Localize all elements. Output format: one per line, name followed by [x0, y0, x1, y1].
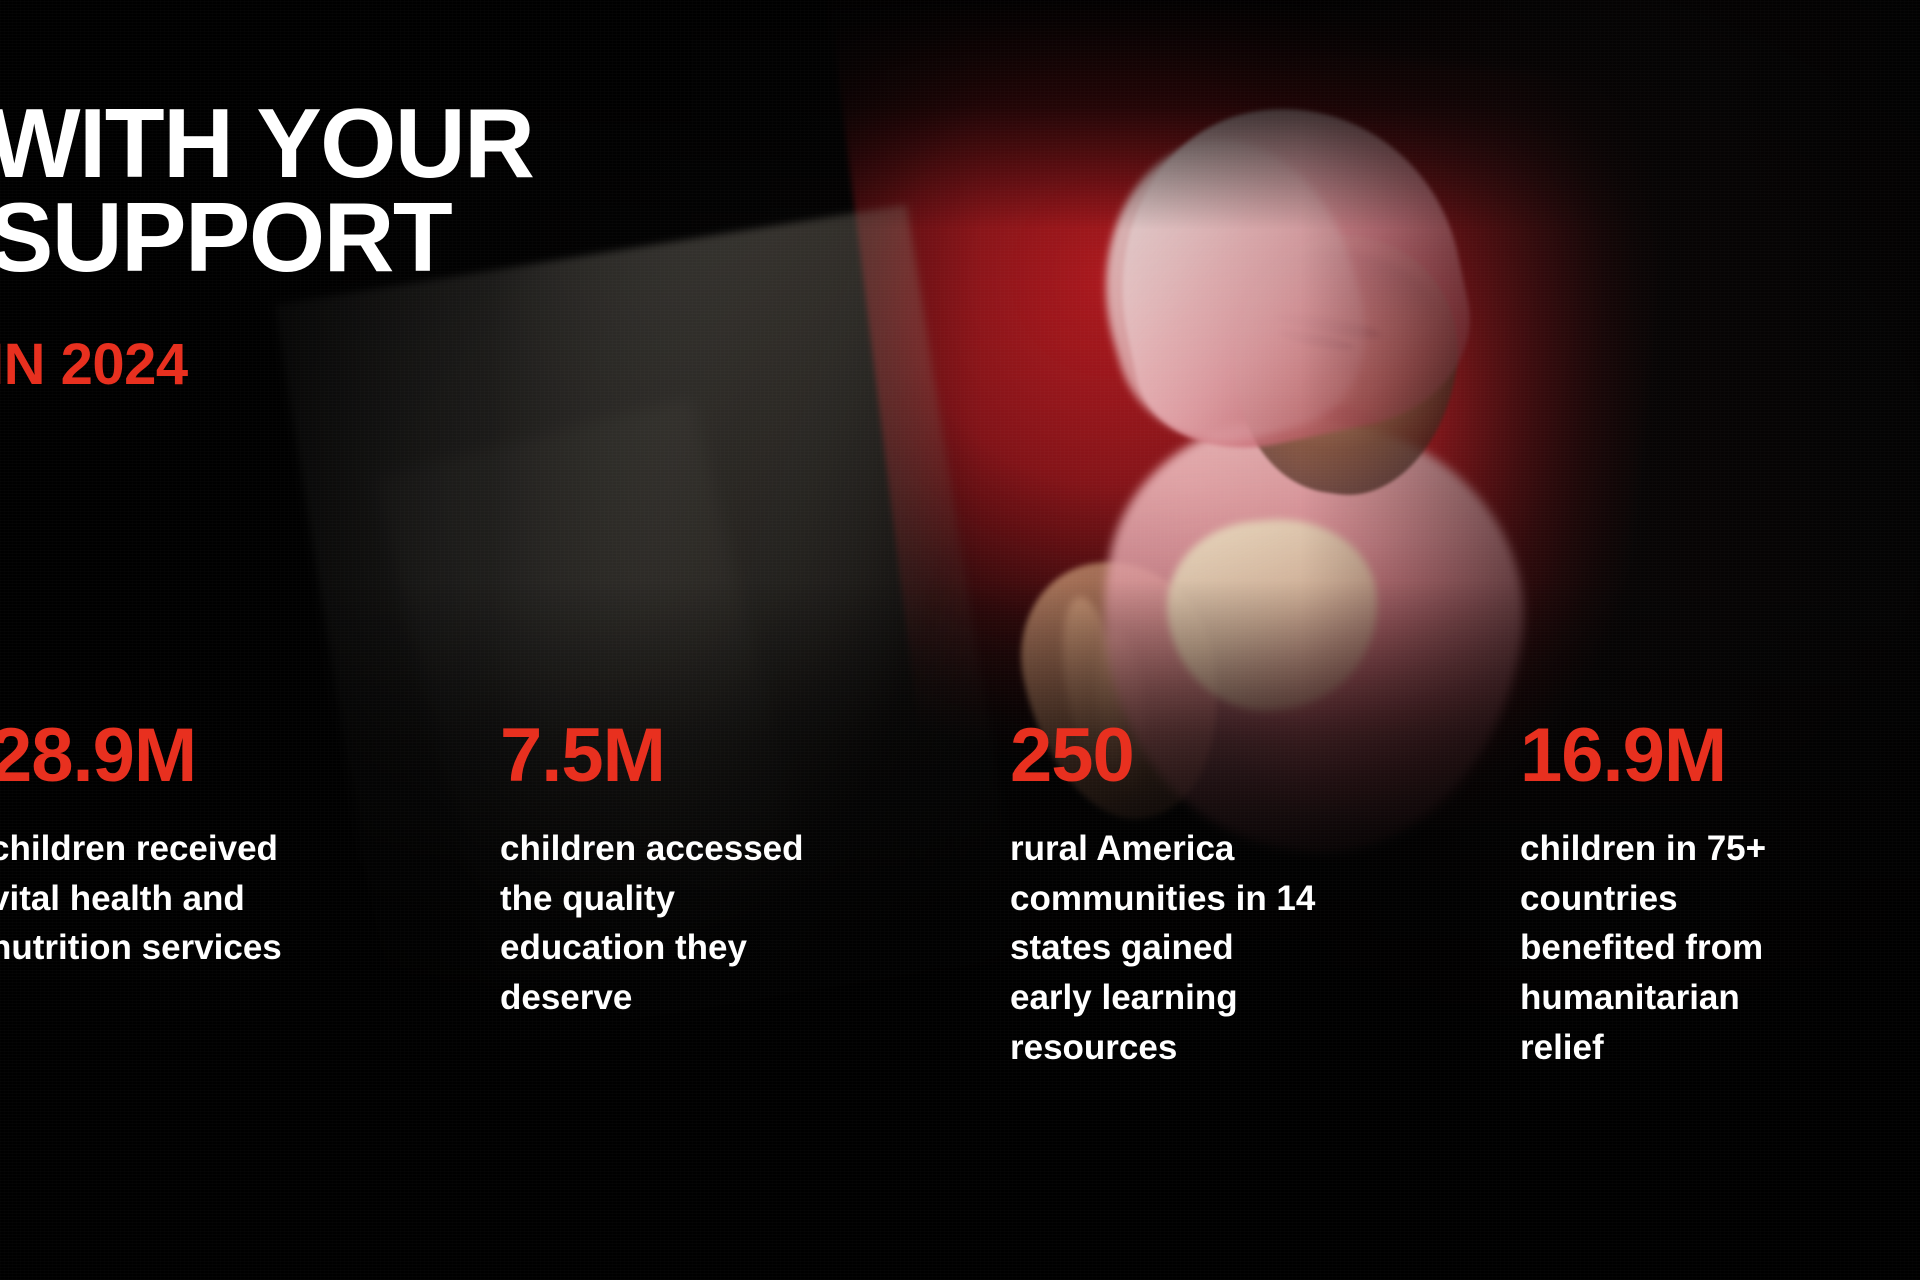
stat-description: children received vital health and nutri… [0, 824, 466, 973]
page-subtitle: IN 2024 [0, 336, 888, 394]
stat-description: rural America communities in 14 states g… [1010, 824, 1486, 1072]
stat-item: 7.5M children accessed the quality educa… [500, 718, 1010, 1023]
stat-item: 16.9M children in 75+ countries benefite… [1520, 718, 1920, 1072]
stat-description: children in 75+ countries benefited from… [1520, 824, 1920, 1072]
stat-item: 28.9M children received vital health and… [0, 718, 500, 973]
stats-row: 28.9M children received vital health and… [0, 718, 1920, 1072]
stat-item: 250 rural America communities in 14 stat… [1010, 718, 1520, 1072]
page-title: WITH YOUR SUPPORT [0, 96, 888, 284]
stat-value: 250 [1010, 718, 1486, 794]
stat-value: 28.9M [0, 718, 466, 794]
stat-description: children accessed the quality education … [500, 824, 976, 1023]
headline-block: WITH YOUR SUPPORT IN 2024 [0, 96, 888, 394]
stat-value: 16.9M [1520, 718, 1920, 794]
stat-value: 7.5M [500, 718, 976, 794]
hero-banner: WITH YOUR SUPPORT IN 2024 28.9M children… [0, 0, 1920, 1280]
